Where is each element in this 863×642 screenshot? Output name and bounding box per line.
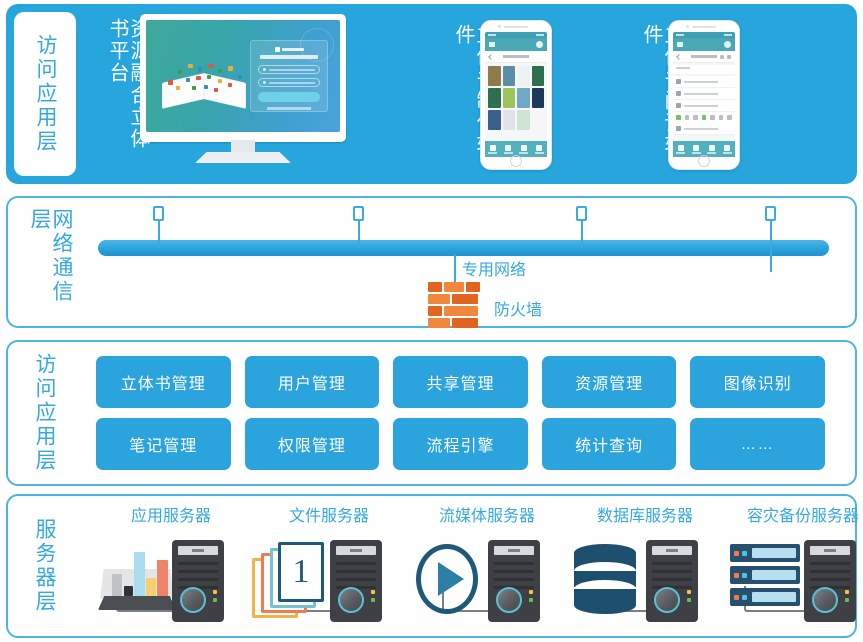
desktop-monitor-icon	[140, 14, 346, 176]
optical-drive	[178, 546, 218, 555]
application-modules-grid: 立体书管理 用户管理 共享管理 资源管理 图像识别 笔记管理 权限管理 流程引擎…	[96, 356, 825, 470]
module-tile-statistics-query[interactable]: 统计查询	[542, 418, 677, 470]
back-icon[interactable]	[676, 54, 682, 60]
server-tower	[804, 540, 856, 622]
layer-label-box-access-top: 访问应用层	[14, 12, 76, 176]
power-dial	[812, 587, 838, 613]
database-server-icon	[566, 530, 724, 626]
book-cover-empty	[532, 110, 545, 130]
note-list-item[interactable]	[673, 76, 735, 88]
monitor-frame	[140, 14, 346, 142]
document-stack: 1	[252, 542, 324, 618]
system-architecture-diagram: 访问应用层 资源融合立体书平台	[0, 0, 863, 642]
login-password-field[interactable]	[258, 78, 320, 87]
book-cover[interactable]	[503, 110, 516, 130]
book-cover[interactable]	[503, 66, 516, 86]
dedicated-network-label: 专用网络	[462, 256, 526, 280]
server-title-application: 应用服务器	[131, 502, 211, 526]
server-tower	[330, 540, 382, 622]
network-node-port-icon[interactable]	[353, 206, 364, 221]
rack-backup-server-icon	[724, 530, 863, 626]
monitor-neck	[231, 140, 255, 154]
rack-unit	[730, 566, 800, 584]
book-cover-grid	[485, 63, 547, 133]
optical-drive	[652, 546, 692, 555]
phone-speaker	[692, 26, 716, 28]
book-cover-add[interactable]	[517, 110, 530, 130]
server-database: 数据库服务器	[566, 502, 724, 630]
book-cover[interactable]	[488, 88, 501, 108]
power-dial	[654, 587, 680, 613]
book-cover[interactable]	[503, 88, 516, 108]
module-tile-image-recognition[interactable]: 图像识别	[690, 356, 825, 408]
tab-shelf[interactable]	[707, 145, 716, 154]
tab-profile[interactable]	[535, 145, 544, 154]
network-node-port-icon[interactable]	[765, 206, 776, 221]
monitor-screen	[146, 20, 340, 132]
note-toolbar[interactable]	[673, 112, 735, 123]
network-node-stem	[770, 220, 772, 272]
smartphone-authoring-app	[480, 20, 552, 170]
bar-chart-server-icon	[92, 530, 250, 626]
server-title-file: 文件服务器	[289, 502, 369, 526]
server-tower	[488, 540, 540, 622]
navbar-title-placeholder	[691, 55, 717, 58]
optical-drive	[494, 546, 534, 555]
documents-server-icon: 1	[250, 530, 408, 626]
login-card	[250, 40, 328, 112]
module-tile-more[interactable]: ……	[690, 418, 825, 470]
navbar-actions[interactable]	[720, 55, 731, 59]
module-tile-resource-management[interactable]: 资源管理	[542, 356, 677, 408]
optical-drive	[810, 546, 850, 555]
note-list-item[interactable]	[673, 123, 735, 135]
book-cover[interactable]	[532, 66, 545, 86]
menu-icon[interactable]	[677, 42, 683, 47]
monitor-base	[195, 152, 291, 163]
layer-label-network-communication: 网络通信层	[28, 208, 72, 316]
rack-unit	[730, 588, 800, 606]
phone-screen-reader	[673, 32, 735, 157]
power-dial	[180, 587, 206, 613]
phone-screen-authoring	[485, 32, 547, 157]
note-list-item[interactable]	[673, 100, 735, 112]
menu-icon[interactable]	[489, 42, 495, 47]
servers-row: 应用服务器	[92, 502, 841, 630]
module-tile-book-management[interactable]: 立体书管理	[96, 356, 231, 408]
server-title-database: 数据库服务器	[597, 502, 693, 526]
phone-app-header	[673, 38, 735, 51]
login-username-field[interactable]	[258, 65, 320, 74]
layer-label-server: 服务器层	[33, 518, 55, 614]
module-tile-user-management[interactable]: 用户管理	[245, 356, 380, 408]
server-application: 应用服务器	[92, 502, 250, 630]
book-cover[interactable]	[488, 66, 501, 86]
back-icon[interactable]	[488, 54, 494, 60]
phone-app-header	[485, 38, 547, 51]
book-cover[interactable]	[517, 88, 530, 108]
tab-library[interactable]	[504, 145, 513, 154]
server-file: 文件服务器 1	[250, 502, 408, 630]
network-node-stem	[158, 220, 160, 248]
phone-camera-icon	[686, 25, 689, 28]
tab-notes[interactable]	[692, 145, 701, 154]
login-logo	[258, 47, 320, 52]
open-book-illustration	[162, 64, 246, 104]
module-tile-process-engine[interactable]: 流程引擎	[393, 418, 528, 470]
media-play-server-icon	[408, 530, 566, 626]
phone-camera-icon	[498, 25, 501, 28]
phone-navbar	[485, 51, 547, 63]
layer-server: 服务器层 应用服务器	[6, 494, 857, 638]
login-title-placeholder	[260, 55, 318, 59]
module-tile-note-management[interactable]: 笔记管理	[96, 418, 231, 470]
layer-label-access-application-top: 访问应用层	[34, 34, 56, 154]
network-node-stem	[581, 220, 583, 248]
book-cover[interactable]	[488, 110, 501, 130]
smartphone-reader-app	[668, 20, 740, 170]
power-dial	[338, 587, 364, 613]
server-streaming-media: 流媒体服务器	[408, 502, 566, 630]
login-helper-links[interactable]	[267, 107, 311, 110]
document-page-number: 1	[278, 542, 324, 602]
server-title-disaster-recovery-backup: 容灾备份服务器	[747, 502, 859, 526]
play-button-icon	[416, 544, 478, 614]
server-disaster-recovery-backup: 容灾备份服务器	[724, 502, 863, 630]
network-node-port-icon[interactable]	[153, 206, 164, 221]
rack-units	[730, 544, 800, 610]
phone-home-button[interactable]	[698, 155, 710, 167]
network-node-port-icon[interactable]	[576, 206, 587, 221]
phone-speaker	[504, 26, 528, 28]
layer-access-application-modules: 访问应用层 立体书管理 用户管理 共享管理 资源管理 图像识别 笔记管理 权限管…	[6, 340, 857, 486]
database-cylinder	[574, 544, 636, 616]
phone-navbar	[673, 51, 735, 63]
server-tower	[172, 540, 224, 622]
gear-icon[interactable]	[724, 41, 731, 48]
layer-label-access-application-modules: 访问应用层	[33, 353, 55, 473]
server-tower	[646, 540, 698, 622]
layer-label-box-modules: 访问应用层	[16, 350, 72, 476]
book-cover[interactable]	[532, 88, 545, 108]
layer-network-communication: 网络通信层 专用网络 防火墙	[6, 196, 857, 328]
navbar-title-placeholder	[503, 55, 529, 58]
phone-home-button[interactable]	[510, 155, 522, 167]
tab-home[interactable]	[488, 145, 497, 154]
login-submit-button[interactable]	[258, 92, 320, 102]
tab-create[interactable]	[519, 145, 528, 154]
network-backbone-bar	[98, 240, 829, 256]
notes-section-header	[673, 65, 735, 74]
firewall-icon	[428, 282, 480, 330]
gear-icon[interactable]	[536, 41, 543, 48]
optical-drive	[336, 546, 376, 555]
chart-tray-base	[98, 596, 176, 610]
tab-home[interactable]	[676, 145, 685, 154]
layer-label-box-servers: 服务器层	[16, 504, 72, 628]
firewall-label: 防火墙	[494, 296, 542, 320]
network-node-stem	[358, 220, 360, 248]
module-tile-share-management[interactable]: 共享管理	[393, 356, 528, 408]
note-list-item[interactable]	[673, 88, 735, 100]
rack-unit	[730, 544, 800, 562]
tab-profile[interactable]	[723, 145, 732, 154]
power-dial	[496, 587, 522, 613]
book-cover[interactable]	[517, 66, 530, 86]
server-title-streaming-media: 流媒体服务器	[439, 502, 535, 526]
module-tile-permission-management[interactable]: 权限管理	[245, 418, 380, 470]
layer-access-application-top: 访问应用层 资源融合立体书平台	[6, 4, 857, 184]
